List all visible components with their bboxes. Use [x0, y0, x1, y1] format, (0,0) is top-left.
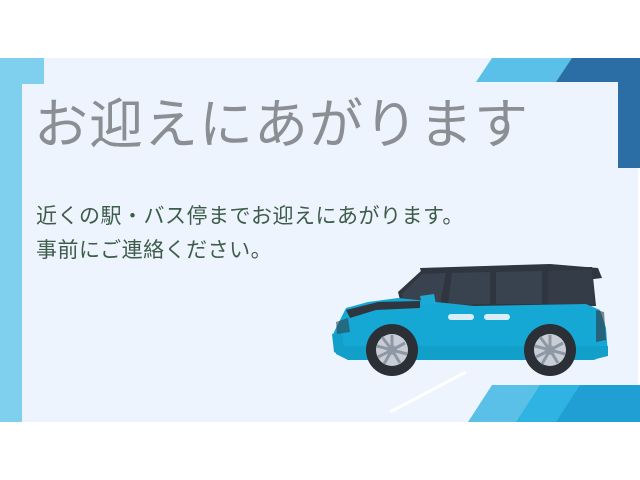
- minivan-illustration: [324, 254, 616, 382]
- top-right-dark-corner: [618, 58, 640, 168]
- car-headlight: [336, 318, 350, 334]
- description-line-1: 近くの駅・バス停までお迎えにあがります。: [36, 200, 576, 234]
- page-title: お迎えにあがります: [34, 94, 594, 158]
- car-front-wheel: [366, 324, 418, 376]
- car-taillight: [596, 310, 606, 342]
- promo-banner: お迎えにあがります 近くの駅・バス停までお迎えにあがります。 事前にご連絡くださ…: [0, 0, 640, 480]
- car-door-handle-rear: [484, 314, 510, 320]
- car-quarter-window: [548, 269, 594, 304]
- left-accent-bar-top: [0, 58, 44, 84]
- car-front-window: [448, 272, 490, 305]
- car-rear-window: [496, 271, 542, 304]
- minivan-side-view-icon: [324, 254, 616, 382]
- car-rear-wheel: [524, 324, 576, 376]
- car-door-handle-front: [448, 314, 474, 320]
